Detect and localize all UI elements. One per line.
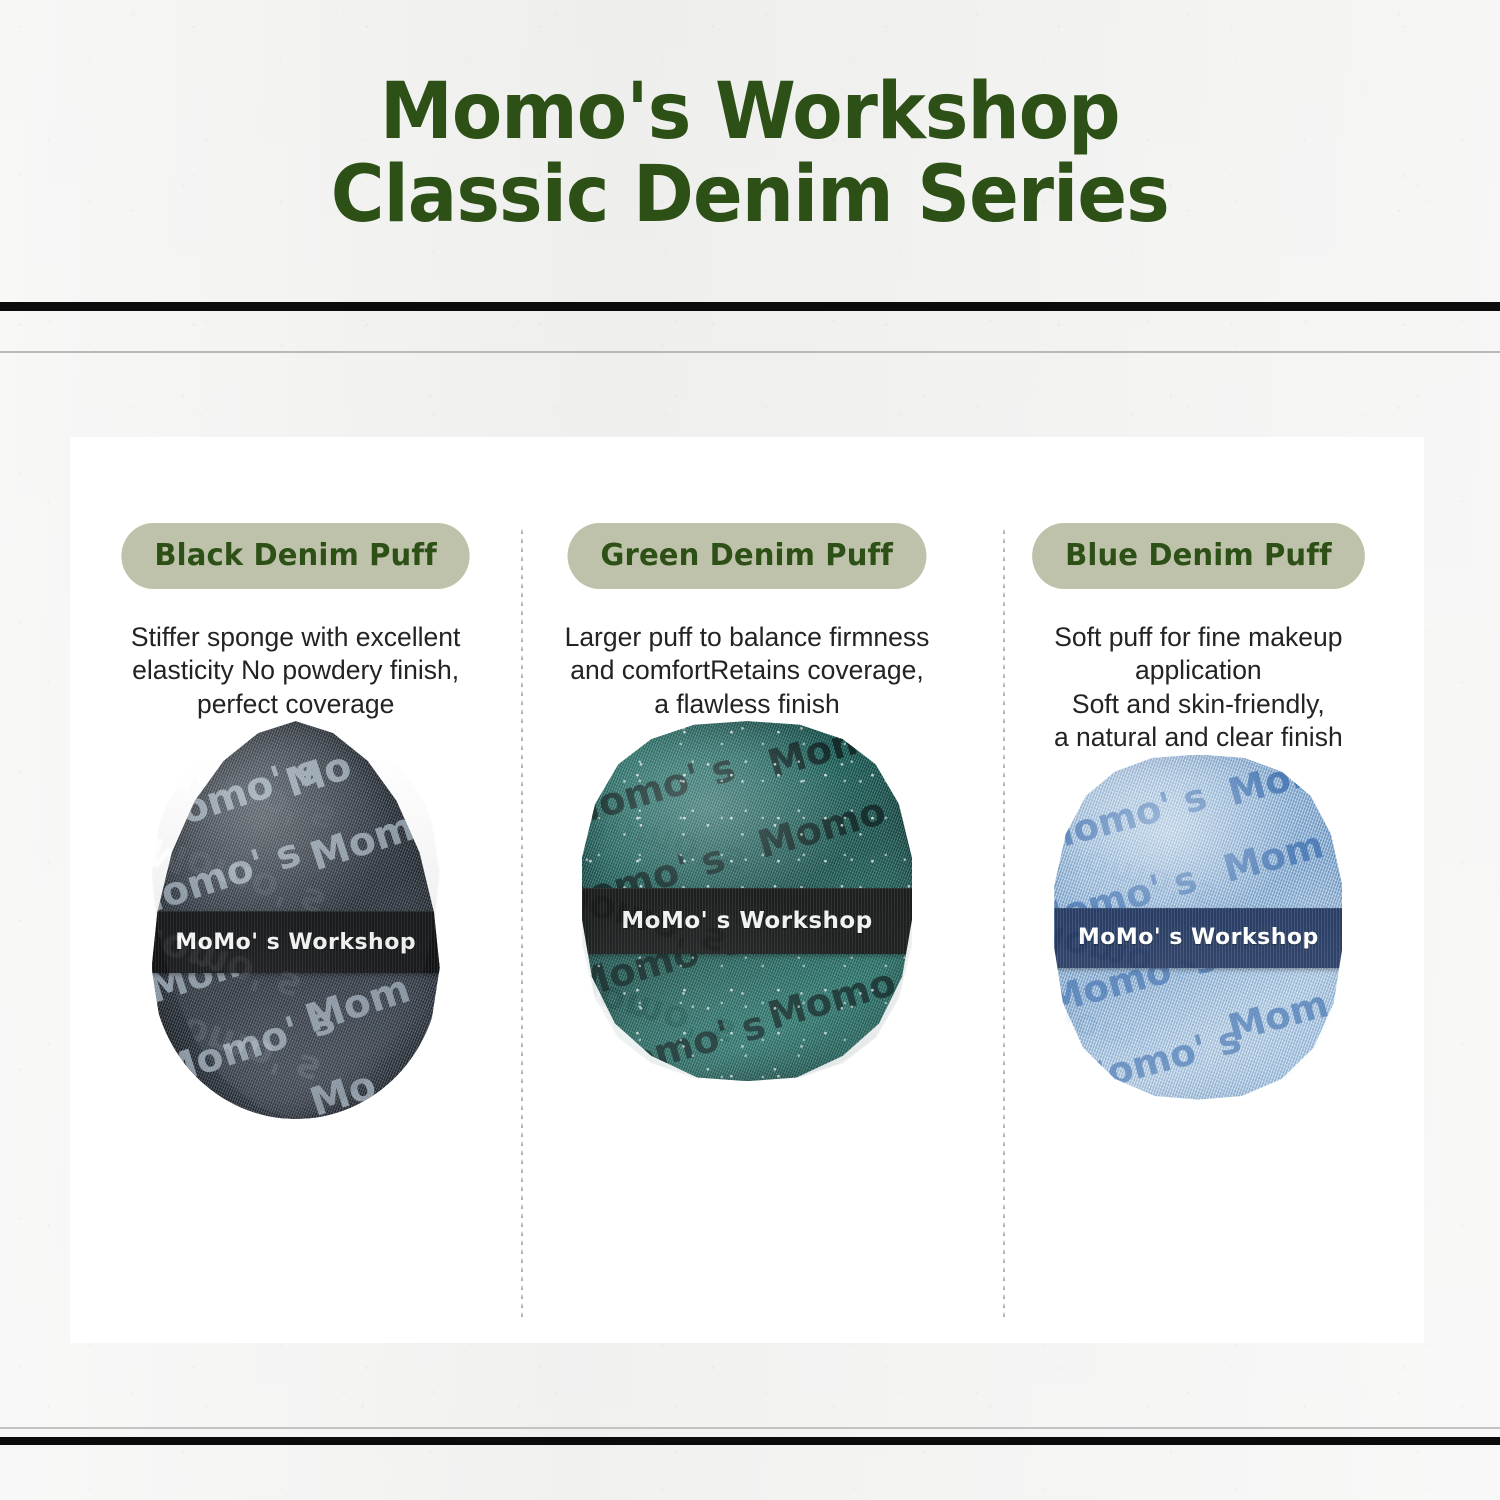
badge-black-denim-puff[interactable]: Black Denim Puff: [121, 523, 469, 589]
page-title: Momo's Workshop Classic Denim Series: [331, 71, 1169, 238]
product-image-blue-denim-puff: Momo' s Mom Momo' s Mom Momo' s Mom Momo…: [1054, 755, 1342, 1100]
product-image-black-denim-puff: Momo' s Mo Momo' s Mom Momo' s Mo Momo' …: [152, 721, 440, 1119]
product-card: Black Denim Puff Stiffer sponge with exc…: [70, 437, 1424, 1343]
puff-wrapper-blue: Momo' s Mom Momo' s Mom Momo' s Mom Momo…: [1054, 755, 1342, 1100]
divider-grey-bottom: [0, 1427, 1500, 1429]
product-image-stage-black: Momo' s Mo Momo' s Mom Momo' s Mo Momo' …: [70, 721, 521, 1343]
band-label-blue: MoMo' s Workshop: [1054, 908, 1342, 968]
title-line-2: Classic Denim Series: [331, 154, 1169, 237]
description-green-denim-puff: Larger puff to balance firmness and comf…: [565, 621, 930, 721]
band-label-green: MoMo' s Workshop: [582, 888, 912, 954]
product-image-green-denim-puff: Momo' s Momo Momo' s Momo Momo' s Momo M…: [582, 721, 912, 1081]
product-column-blue: Blue Denim Puff Soft puff for fine makeu…: [973, 437, 1424, 1343]
divider-black-bottom: [0, 1437, 1500, 1445]
divider-black-top: [0, 302, 1500, 311]
divider-grey-top: [0, 351, 1500, 353]
product-columns: Black Denim Puff Stiffer sponge with exc…: [70, 437, 1424, 1343]
product-column-green: Green Denim Puff Larger puff to balance …: [521, 437, 972, 1343]
description-blue-denim-puff: Soft puff for fine makeup application So…: [1054, 621, 1343, 755]
header: Momo's Workshop Classic Denim Series: [0, 0, 1500, 308]
description-black-denim-puff: Stiffer sponge with excellent elasticity…: [131, 621, 460, 721]
puff-wrapper-black: Momo' s Mo Momo' s Mom Momo' s Mo Momo' …: [152, 721, 440, 1119]
product-image-stage-green: Momo' s Momo Momo' s Momo Momo' s Momo M…: [521, 721, 972, 1343]
product-column-black: Black Denim Puff Stiffer sponge with exc…: [70, 437, 521, 1343]
product-image-stage-blue: Momo' s Mom Momo' s Mom Momo' s Mom Momo…: [973, 755, 1424, 1344]
badge-blue-denim-puff[interactable]: Blue Denim Puff: [1032, 523, 1365, 589]
band-label-black: MoMo' s Workshop: [152, 911, 440, 973]
badge-green-denim-puff[interactable]: Green Denim Puff: [568, 523, 926, 589]
puff-wrapper-green: Momo' s Momo Momo' s Momo Momo' s Momo M…: [582, 721, 912, 1081]
title-line-1: Momo's Workshop: [331, 71, 1169, 154]
